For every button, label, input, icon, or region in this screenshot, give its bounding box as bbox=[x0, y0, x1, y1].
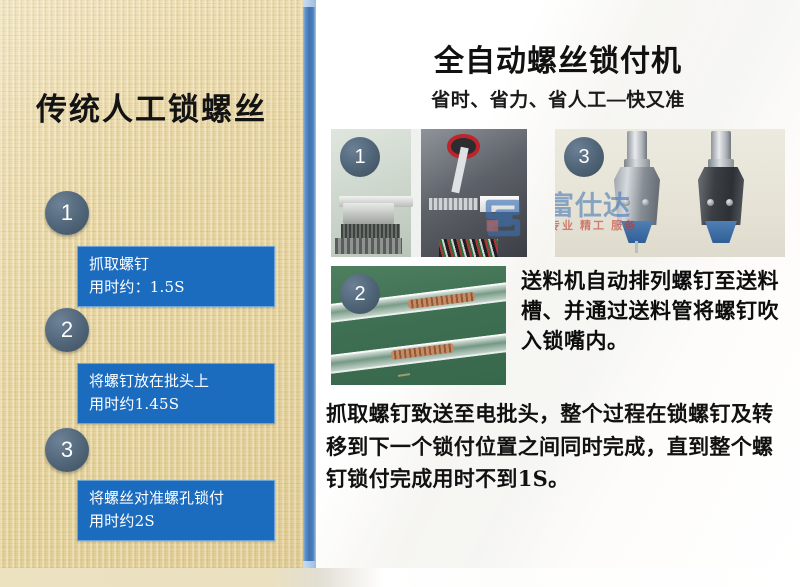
photo-lock-nozzles: 富仕达 专业 精工 服务 3 bbox=[555, 129, 785, 257]
photo-2-badge: 2 bbox=[340, 274, 380, 314]
bottom-fade-strip bbox=[0, 568, 800, 587]
nozzle-right-tip bbox=[705, 221, 737, 243]
nozzle-right-body bbox=[698, 167, 744, 225]
vertical-divider-bar bbox=[303, 0, 316, 568]
photo-1-badge: 1 bbox=[340, 137, 380, 177]
step-badge-2-number: 2 bbox=[61, 317, 73, 343]
nozzle-left-pin bbox=[635, 241, 638, 253]
step-box-2-line2: 用时约1.45S bbox=[89, 393, 274, 416]
photo-1-badge-number: 1 bbox=[354, 146, 365, 169]
photo-1-brush bbox=[341, 224, 400, 238]
divider-cap-bottom bbox=[303, 561, 316, 568]
nozzle-right bbox=[695, 129, 747, 253]
divider-cap-top bbox=[303, 0, 316, 7]
step-badge-1: 1 bbox=[45, 191, 89, 235]
step-box-2-line1: 将螺钉放在批头上 bbox=[89, 370, 274, 393]
summary-paragraph: 抓取螺钉致送至电批头，整个过程在锁螺钉及转移到下一个锁付位置之间同时完成，直到整… bbox=[326, 398, 794, 496]
step-box-3: 将螺丝对准螺孔锁付 用时约2S bbox=[77, 480, 275, 541]
main-title: 全自动螺丝锁付机 bbox=[316, 36, 800, 80]
photo-1-wire-bundle bbox=[439, 239, 498, 257]
slide-canvas: 传统人工锁螺丝 1 抓取螺钉 用时约：1.5S 2 将螺钉放在批头上 用时约1.… bbox=[0, 0, 800, 587]
nozzle-right-screw-a bbox=[707, 199, 714, 206]
photo-1-block bbox=[343, 203, 394, 223]
step-badge-3-number: 3 bbox=[61, 437, 73, 463]
watermark-slogan: 专业 精工 服务 bbox=[555, 217, 637, 233]
photo-3-badge: 3 bbox=[564, 137, 604, 177]
step-badge-3: 3 bbox=[45, 428, 89, 472]
right-panel-automatic-machine: 全自动螺丝锁付机 省时、省力、省人工—快又准 1 bbox=[316, 0, 800, 568]
nozzle-left-screw-b bbox=[642, 199, 649, 206]
left-panel-manual-process: 传统人工锁螺丝 1 抓取螺钉 用时约：1.5S 2 将螺钉放在批头上 用时约1.… bbox=[0, 0, 303, 568]
photo-caption-text: 送料机自动排列螺钉至送料槽、并通过送料管将螺钉吹入锁嘴内。 bbox=[521, 266, 793, 355]
photo-2-badge-number: 2 bbox=[354, 283, 365, 306]
photo-machine-interior: 1 bbox=[331, 129, 527, 257]
brand-s-logo-icon bbox=[479, 195, 525, 241]
step-box-2: 将螺钉放在批头上 用时约1.45S bbox=[77, 363, 275, 424]
photo-1-screw-pile bbox=[335, 238, 402, 255]
photo-1-screw-track bbox=[429, 198, 478, 210]
sub-title: 省时、省力、省人工—快又准 bbox=[316, 85, 800, 112]
step-box-3-line1: 将螺丝对准螺孔锁付 bbox=[89, 487, 274, 510]
step-box-1-line2: 用时约：1.5S bbox=[89, 276, 274, 299]
step-badge-1-number: 1 bbox=[61, 200, 73, 226]
nozzle-right-screw-b bbox=[726, 199, 733, 206]
photo-feed-tubes: 2 bbox=[331, 266, 506, 385]
step-box-1: 抓取螺钉 用时约：1.5S bbox=[77, 246, 275, 307]
step-box-3-line2: 用时约2S bbox=[89, 510, 274, 533]
photo-3-badge-number: 3 bbox=[578, 146, 589, 169]
step-badge-2: 2 bbox=[45, 308, 89, 352]
left-panel-title: 传统人工锁螺丝 bbox=[0, 84, 303, 129]
mat-speck bbox=[397, 373, 409, 377]
step-box-1-line1: 抓取螺钉 bbox=[89, 253, 274, 276]
